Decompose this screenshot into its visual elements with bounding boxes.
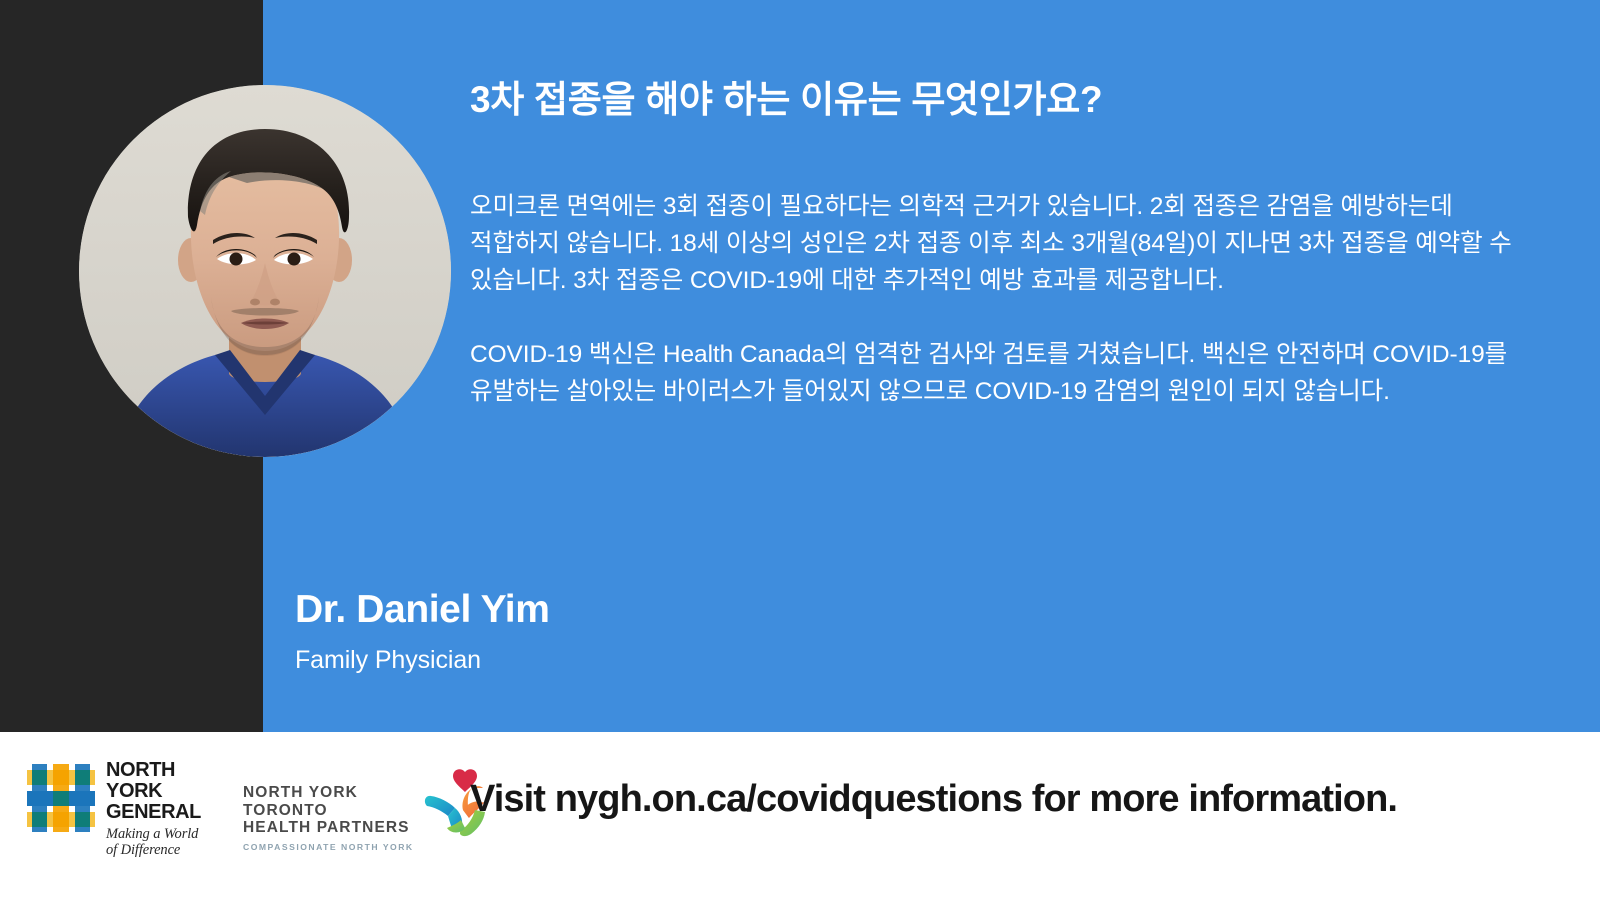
- body-copy: 오미크론 면역에는 3회 접종이 필요하다는 의학적 근거가 있습니다. 2회 …: [470, 188, 1532, 410]
- north-york-general-logo: NORTH YORK GENERAL Making a World of Dif…: [27, 760, 201, 858]
- visit-url-text: Visit nygh.on.ca/covidquestions for more…: [470, 778, 1397, 821]
- credit-block: Dr. Daniel Yim Family Physician: [295, 588, 550, 675]
- nythp-name-line-2: TORONTO: [243, 802, 414, 820]
- nygh-plaid-mark-icon: [27, 764, 95, 832]
- north-york-toronto-health-partners-logo: NORTH YORK TORONTO HEALTH PARTNERS COMPA…: [243, 766, 493, 852]
- doctor-name: Dr. Daniel Yim: [295, 588, 550, 633]
- nythp-name-line-1: NORTH YORK: [243, 784, 414, 802]
- nygh-tagline-line-2: of Difference: [106, 843, 201, 859]
- doctor-role: Family Physician: [295, 646, 550, 675]
- doctor-portrait: [79, 85, 451, 457]
- nygh-name-line-2: YORK: [106, 781, 201, 802]
- portrait-illustration: [79, 85, 451, 457]
- main-stage: 3차 접종을 해야 하는 이유는 무엇인가요? 오미크론 면역에는 3회 접종이…: [0, 0, 1600, 732]
- page-title: 3차 접종을 해야 하는 이유는 무엇인가요?: [470, 78, 1530, 122]
- nythp-wordmark: NORTH YORK TORONTO HEALTH PARTNERS COMPA…: [243, 766, 414, 852]
- nythp-name-line-3: HEALTH PARTNERS: [243, 819, 414, 837]
- nygh-wordmark: NORTH YORK GENERAL Making a World of Dif…: [106, 760, 201, 858]
- nythp-tagline: COMPASSIONATE NORTH YORK: [243, 842, 414, 852]
- nygh-name-line-3: GENERAL: [106, 802, 201, 823]
- nygh-name-line-1: NORTH: [106, 760, 201, 781]
- nygh-tagline-line-1: Making a World: [106, 827, 201, 843]
- paragraph-2: COVID-19 백신은 Health Canada의 엄격한 검사와 검토를 …: [470, 336, 1532, 410]
- poster: 3차 접종을 해야 하는 이유는 무엇인가요? 오미크론 면역에는 3회 접종이…: [0, 0, 1600, 900]
- text-content: 3차 접종을 해야 하는 이유는 무엇인가요? 오미크론 면역에는 3회 접종이…: [470, 0, 1540, 732]
- paragraph-1: 오미크론 면역에는 3회 접종이 필요하다는 의학적 근거가 있습니다. 2회 …: [470, 188, 1532, 299]
